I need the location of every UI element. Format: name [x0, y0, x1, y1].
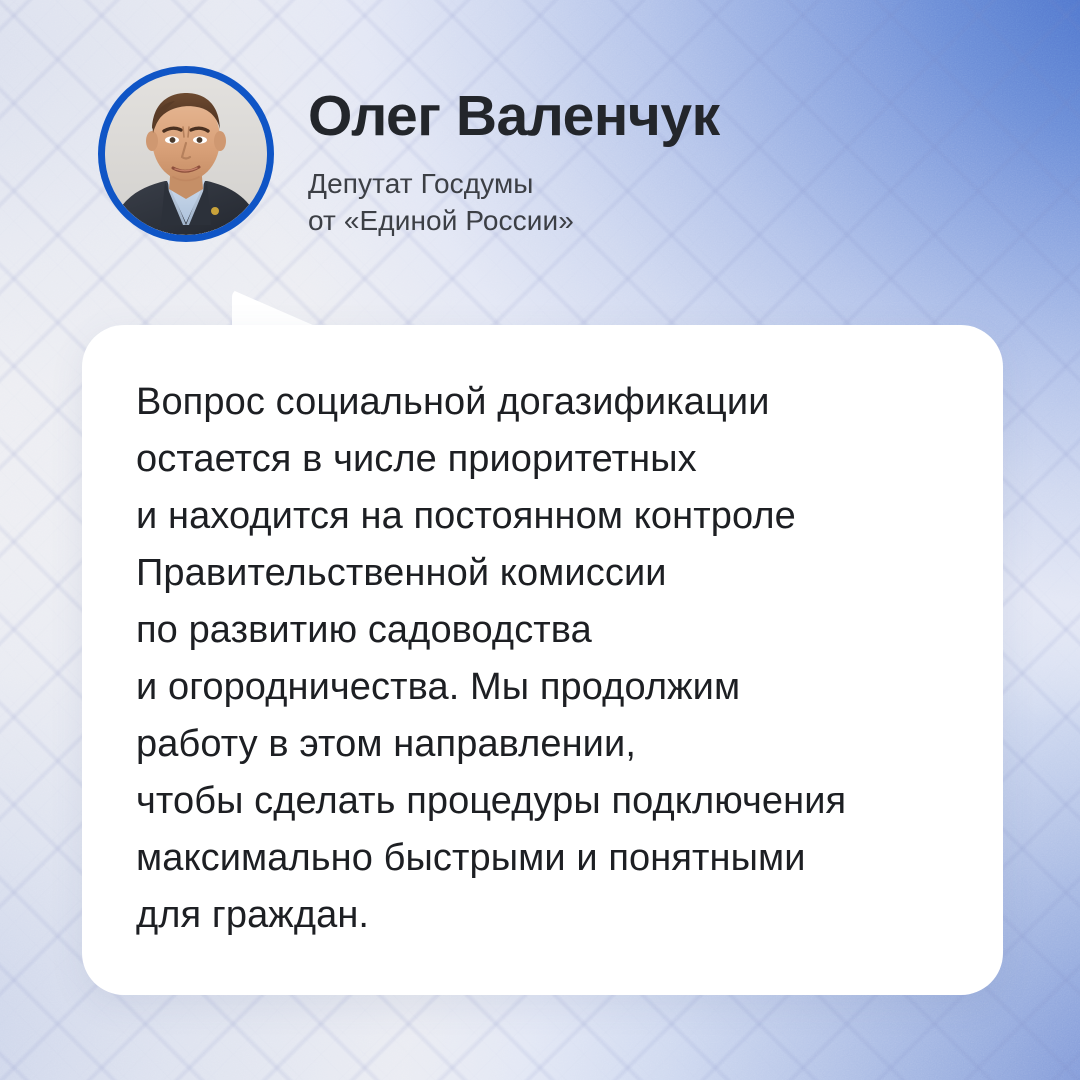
quote-poster: Олег Валенчук Депутат Госдумы от «Единой…	[0, 0, 1080, 1080]
speaker-header: Олег Валенчук Депутат Госдумы от «Единой…	[98, 66, 720, 242]
avatar	[98, 66, 274, 242]
speaker-role-line-1: Депутат Госдумы	[308, 165, 720, 202]
speaker-name: Олег Валенчук	[308, 88, 720, 145]
speaker-role-line-2: от «Единой России»	[308, 202, 720, 239]
avatar-photo	[105, 73, 267, 235]
quote-text: Вопрос социальной догазификации остается…	[136, 374, 976, 944]
avatar-portrait-icon	[105, 73, 267, 235]
speaker-role: Депутат Госдумы от «Единой России»	[308, 165, 720, 239]
speaker-text-block: Олег Валенчук Депутат Госдумы от «Единой…	[308, 66, 720, 239]
